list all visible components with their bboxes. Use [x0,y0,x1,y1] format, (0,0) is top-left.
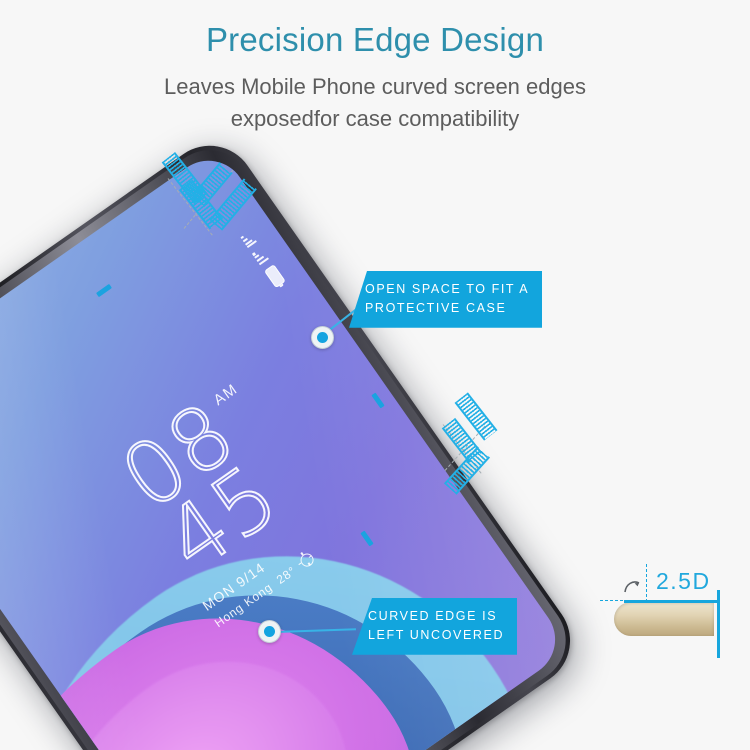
diagram-vertical-dashed-guide [646,564,647,602]
header-block: Precision Edge Design Leaves Mobile Phon… [0,0,750,134]
target-marker-curved-edge [258,620,281,643]
target-marker-open-space [311,326,334,349]
callout-open-space: OPEN SPACE TO FIT A PROTECTIVE CASE [349,271,542,328]
subtitle-line-2: exposedfor case compatibility [231,106,520,131]
glass-cross-section [614,602,714,636]
page-subtitle: Leaves Mobile Phone curved screen edges … [0,58,750,133]
subtitle-line-1: Leaves Mobile Phone curved screen edges [164,74,586,99]
curved-edge-arc-icon [622,576,644,598]
page-title: Precision Edge Design [0,0,750,58]
callout-curved-edge: CURVED EDGE IS LEFT UNCOVERED [352,598,517,655]
phone-screen: 08 45 AM MON 9/14 Hong Kong 28° [0,146,570,750]
phone-metal-rim: 08 45 AM MON 9/14 Hong Kong 28° [0,133,583,750]
edge-thickness-label: 2.5D [656,568,711,595]
edge-thickness-diagram: 2.5D [600,560,730,660]
phone-mockup: 08 45 AM MON 9/14 Hong Kong 28° [0,128,588,750]
diagram-top-dimension-line [624,600,720,603]
product-marketing-image: Precision Edge Design Leaves Mobile Phon… [0,0,750,750]
phone-body: 08 45 AM MON 9/14 Hong Kong 28° [0,128,588,750]
diagram-right-dimension-line [717,590,720,658]
